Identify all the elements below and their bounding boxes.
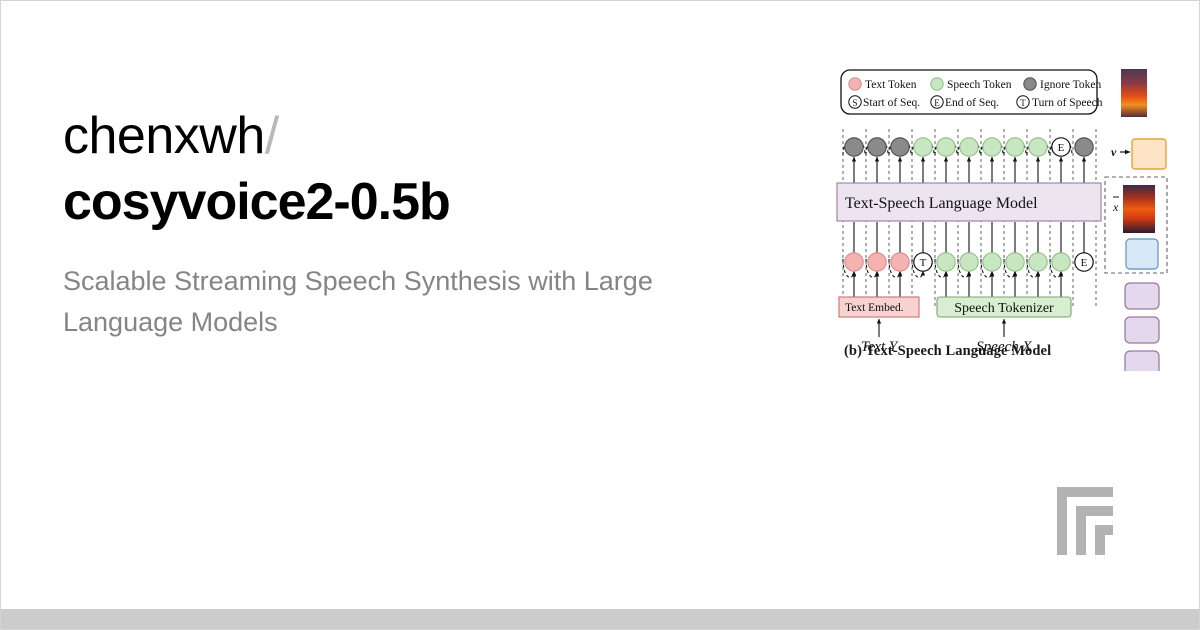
adjacent-figure-panel: v x Ref <box>1105 69 1167 371</box>
side-box-orange <box>1132 139 1166 169</box>
input-token-row: T E <box>843 222 1093 299</box>
owner-repo-separator: / <box>265 107 279 165</box>
figure-caption: (b) Text-Speech Language Model <box>844 343 1051 360</box>
bottom-bar <box>1 609 1199 629</box>
token-speech <box>1006 253 1024 271</box>
legend-glyph-turn-of-speech: T <box>1020 98 1026 108</box>
speech-tokenizer-box: Speech Tokenizer <box>937 297 1071 317</box>
text-embed-box: Text Embed. <box>839 297 919 317</box>
legend-glyph-end-of-seq: E <box>934 98 940 108</box>
hf-papers-logo <box>1055 485 1127 557</box>
token-end-of-seq-glyph-2: E <box>1081 257 1088 269</box>
side-box-purple-3 <box>1125 351 1159 371</box>
spectrogram-thumbnail-mid <box>1123 185 1155 233</box>
legend-label-text-token: Text Token <box>865 79 917 91</box>
token-ignore <box>868 138 886 156</box>
legend-glyph-start-of-seq: S <box>852 98 857 108</box>
side-label-x: x <box>1112 200 1119 214</box>
side-box-purple-1 <box>1125 283 1159 309</box>
repo-owner[interactable]: chenxwh <box>63 107 265 165</box>
language-model-box: Text-Speech Language Model <box>837 183 1101 221</box>
repo-owner-line: chenxwh/ <box>63 106 763 166</box>
legend-label-ignore-token: Ignore Token <box>1040 79 1102 91</box>
paper-figure: Text Token Speech Token Ignore Token S S… <box>833 59 1200 371</box>
legend-label-start-of-seq: Start of Seq. <box>863 97 920 109</box>
token-speech <box>914 138 932 156</box>
token-text <box>868 253 886 271</box>
token-speech <box>960 138 978 156</box>
repo-text-block: chenxwh/ cosyvoice2-0.5b Scalable Stream… <box>63 106 763 343</box>
speech-tokenizer-label: Speech Tokenizer <box>954 301 1054 316</box>
repo-description: Scalable Streaming Speech Synthesis with… <box>63 261 723 343</box>
token-speech <box>937 253 955 271</box>
token-text <box>845 253 863 271</box>
token-ignore <box>1075 138 1093 156</box>
figure-legend: Text Token Speech Token Ignore Token S S… <box>841 70 1103 114</box>
legend-label-end-of-seq: End of Seq. <box>945 97 999 109</box>
legend-swatch-text-token <box>849 78 861 90</box>
legend-label-speech-token: Speech Token <box>947 79 1012 91</box>
output-token-row: E <box>843 138 1093 185</box>
legend-swatch-ignore-token <box>1024 78 1036 90</box>
token-ignore <box>845 138 863 156</box>
token-speech <box>1052 253 1070 271</box>
token-text <box>891 253 909 271</box>
token-speech <box>1029 138 1047 156</box>
side-label-v: v <box>1111 145 1117 159</box>
legend-label-turn-of-speech: Turn of Speech <box>1032 97 1103 109</box>
token-speech <box>960 253 978 271</box>
token-turn-of-speech-glyph: T <box>920 257 927 269</box>
language-model-label: Text-Speech Language Model <box>845 195 1038 212</box>
token-speech <box>1006 138 1024 156</box>
token-speech <box>937 138 955 156</box>
side-box-purple-2 <box>1125 317 1159 343</box>
side-box-blue <box>1126 239 1158 269</box>
token-speech <box>983 138 1001 156</box>
text-embed-label: Text Embed. <box>845 302 904 314</box>
legend-swatch-speech-token <box>931 78 943 90</box>
repo-name[interactable]: cosyvoice2-0.5b <box>63 172 763 232</box>
social-preview-card: chenxwh/ cosyvoice2-0.5b Scalable Stream… <box>0 0 1200 630</box>
token-end-of-seq-glyph: E <box>1058 142 1065 154</box>
token-speech <box>983 253 1001 271</box>
token-speech <box>1029 253 1047 271</box>
token-ignore <box>891 138 909 156</box>
text-speech-language-model-diagram: Text Token Speech Token Ignore Token S S… <box>833 59 1200 371</box>
